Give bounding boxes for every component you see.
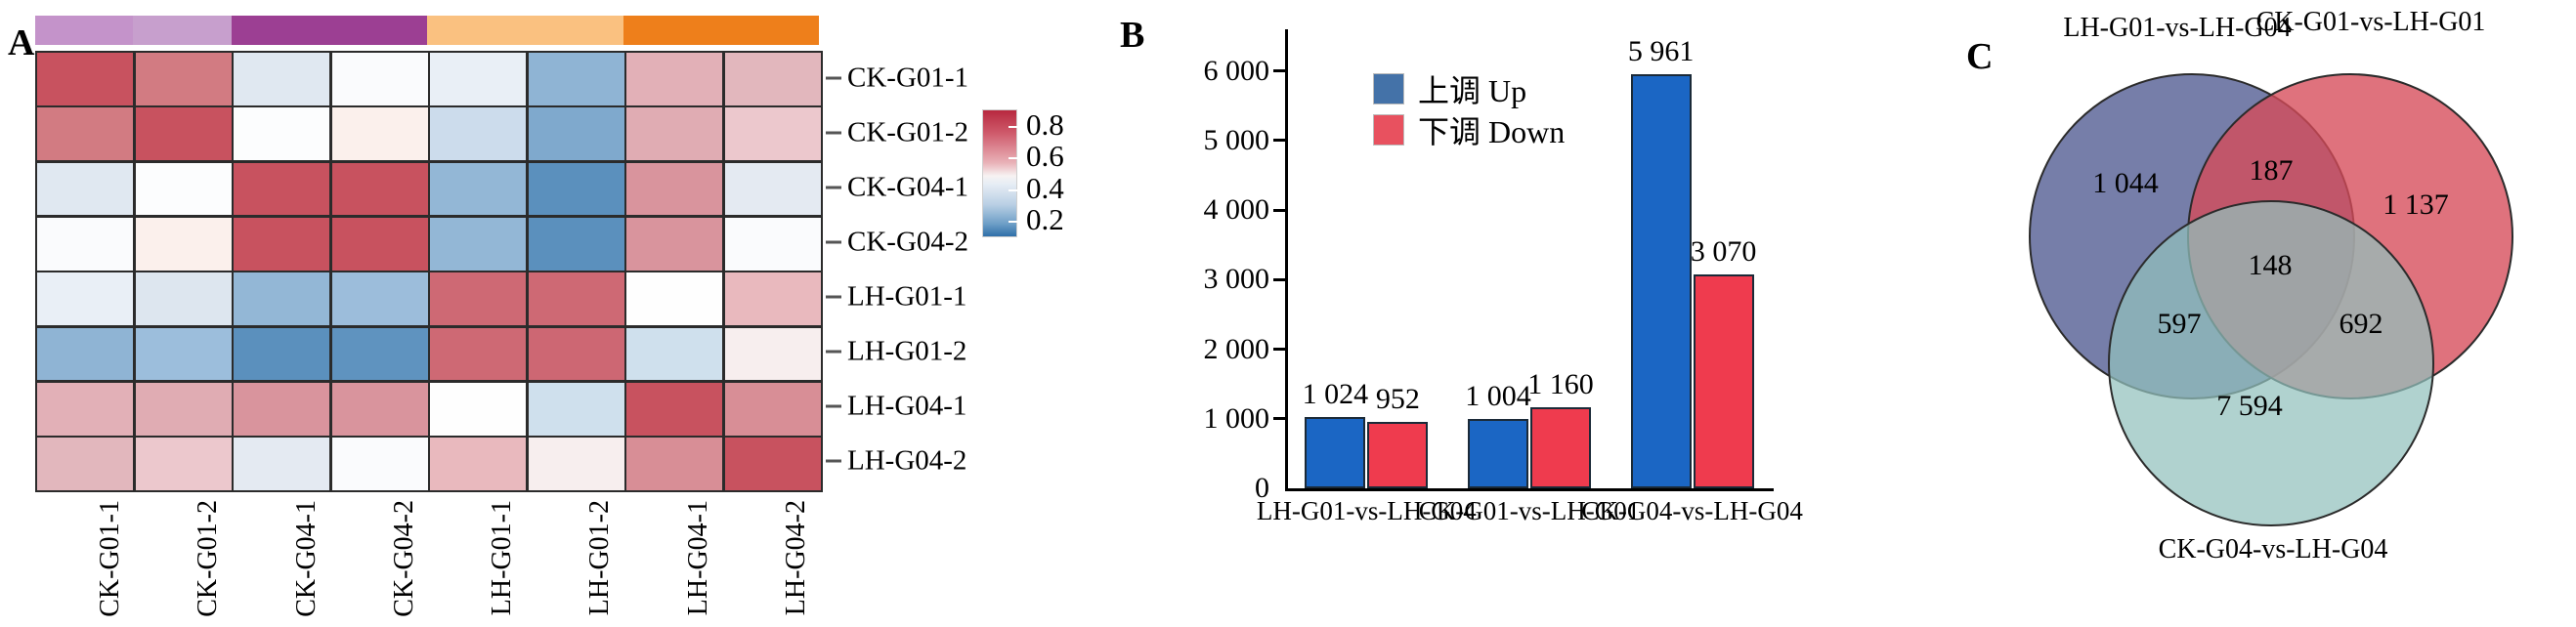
group-color-segment xyxy=(721,16,819,45)
group-color-segment xyxy=(133,16,231,45)
heatmap-cell xyxy=(529,383,624,436)
row-tick xyxy=(826,405,841,408)
colorbar-tick-label: 0.8 xyxy=(1026,107,1064,143)
heatmap-cell xyxy=(37,272,133,325)
heatmap-cell xyxy=(332,218,428,271)
heatmap-cell xyxy=(626,218,722,271)
figure-root: A CK-G01-1CK-G01-2CK-G04-1CK-G04-2LH-G01… xyxy=(0,0,2576,627)
heatmap-cell xyxy=(430,107,526,160)
heatmap-cell xyxy=(234,272,329,325)
heatmap-cell xyxy=(529,328,624,381)
colorbar-tick xyxy=(1009,126,1017,128)
heatmap-column-label: CK-G01-1 xyxy=(95,500,126,617)
heatmap-cell xyxy=(529,438,624,490)
panel-c-venn: C 1 0441 1377 594187597692148LH-G01-vs-L… xyxy=(1964,0,2576,627)
heatmap-cell xyxy=(725,53,821,105)
heatmap-cell xyxy=(136,438,232,490)
heatmap-column-label: CK-G04-2 xyxy=(389,500,420,617)
bar-chart-y-axis xyxy=(1285,29,1288,488)
group-color-segment xyxy=(623,16,721,45)
heatmap-cell xyxy=(37,328,133,381)
heatmap-row-label: CK-G04-1 xyxy=(847,172,968,204)
heatmap-cell xyxy=(234,383,329,436)
legend-label: 下调 Down xyxy=(1418,107,1565,152)
heatmap-cell xyxy=(234,53,329,105)
heatmap-cell xyxy=(725,107,821,160)
colorbar-tick-label: 0.4 xyxy=(1026,171,1064,206)
heatmap-cell xyxy=(234,163,329,216)
venn-title-top-right: CK-G01-vs-LH-G01 xyxy=(2256,7,2486,38)
heatmap-cell xyxy=(529,163,624,216)
bar-value-label: 952 xyxy=(1340,383,1455,416)
row-tick xyxy=(826,187,841,189)
heatmap-cell xyxy=(725,328,821,381)
row-tick xyxy=(826,296,841,299)
heatmap-cell xyxy=(136,107,232,160)
venn-count-bc: 692 xyxy=(2340,308,2383,341)
heatmap-column-label: LH-G01-1 xyxy=(487,500,518,615)
heatmap-cell xyxy=(626,438,722,490)
heatmap-cell xyxy=(234,438,329,490)
panel-a-letter: A xyxy=(8,21,34,64)
venn-count-lh-g01-vs-lh-g04-only: 1 044 xyxy=(2092,167,2159,200)
heatmap-row-label: LH-G04-2 xyxy=(847,445,966,478)
heatmap-cell xyxy=(725,163,821,216)
heatmap-row-label: LH-G01-1 xyxy=(847,281,966,313)
venn-count-ck-g04-vs-lh-g04-only: 7 594 xyxy=(2216,390,2283,423)
y-axis-tick xyxy=(1273,348,1285,351)
heatmap-cell xyxy=(136,383,232,436)
legend-swatch xyxy=(1373,114,1404,146)
y-axis-tick-label: 3 000 xyxy=(1204,263,1270,296)
y-axis-tick-label: 5 000 xyxy=(1204,124,1270,157)
y-axis-tick xyxy=(1273,278,1285,281)
row-tick xyxy=(826,460,841,463)
venn-title-bottom: CK-G04-vs-LH-G04 xyxy=(2159,534,2388,565)
group-color-segment xyxy=(35,16,133,45)
heatmap-cell xyxy=(626,107,722,160)
bar-down xyxy=(1530,407,1591,488)
heatmap-cell xyxy=(430,163,526,216)
heatmap-row-label: LH-G01-2 xyxy=(847,336,966,368)
y-axis-tick-label: 6 000 xyxy=(1204,55,1270,88)
y-axis-tick xyxy=(1273,139,1285,142)
panel-c-letter: C xyxy=(1966,35,1993,78)
row-tick xyxy=(826,77,841,80)
bar-up xyxy=(1468,419,1528,488)
heatmap-cell xyxy=(529,53,624,105)
heatmap-cell xyxy=(430,328,526,381)
heatmap-cell xyxy=(332,438,428,490)
heatmap-column-label: LH-G04-1 xyxy=(683,500,714,615)
bar-up xyxy=(1305,417,1365,488)
colorbar-tick xyxy=(1009,189,1017,191)
venn-count-ck-g01-vs-lh-g01-only: 1 137 xyxy=(2383,188,2449,222)
y-axis-tick xyxy=(1273,417,1285,420)
row-tick xyxy=(826,351,841,354)
legend-item: 上调 Up xyxy=(1373,68,1565,109)
heatmap-column-label: CK-G01-2 xyxy=(193,500,224,617)
heatmap-cell xyxy=(626,53,722,105)
heatmap-cell xyxy=(430,438,526,490)
heatmap-colorbar xyxy=(982,109,1017,237)
heatmap-cell xyxy=(626,328,722,381)
heatmap-cell xyxy=(529,107,624,160)
legend-swatch xyxy=(1373,73,1404,104)
colorbar-tick-label: 0.6 xyxy=(1026,139,1064,174)
heatmap-group-color-bar xyxy=(35,16,819,45)
bar-chart-x-axis xyxy=(1285,488,1774,491)
venn-count-ab: 187 xyxy=(2250,154,2294,188)
group-color-segment xyxy=(427,16,525,45)
heatmap-row-label: CK-G04-2 xyxy=(847,227,968,259)
heatmap-cell xyxy=(725,272,821,325)
heatmap-cell xyxy=(136,272,232,325)
heatmap-cell xyxy=(37,53,133,105)
panel-a-heatmap: A CK-G01-1CK-G01-2CK-G04-1CK-G04-2LH-G01… xyxy=(0,0,1114,627)
heatmap-cell xyxy=(332,328,428,381)
heatmap-cell xyxy=(37,107,133,160)
bar-value-label: 1 160 xyxy=(1503,368,1618,401)
y-axis-tick xyxy=(1273,209,1285,212)
venn-diagram: 1 0441 1377 594187597692148LH-G01-vs-LH-… xyxy=(2011,54,2539,542)
heatmap-cell xyxy=(37,438,133,490)
panel-b-letter: B xyxy=(1120,14,1144,57)
heatmap-cell xyxy=(529,218,624,271)
heatmap-cell xyxy=(626,383,722,436)
row-tick xyxy=(826,241,841,244)
venn-count-ac: 597 xyxy=(2158,308,2202,341)
heatmap-cell xyxy=(136,328,232,381)
panel-b-barchart: B 上调 Up下调 Down 01 0002 0003 0004 0005 00… xyxy=(1114,0,1964,627)
bar-value-label: 5 961 xyxy=(1604,35,1719,68)
colorbar-tick xyxy=(1009,157,1017,159)
heatmap-cell xyxy=(725,383,821,436)
legend-label: 上调 Up xyxy=(1418,66,1526,111)
heatmap-cell xyxy=(37,218,133,271)
heatmap-cell xyxy=(529,272,624,325)
bar-chart-plot-area: 上调 Up下调 Down 01 0002 0003 0004 0005 0006… xyxy=(1285,29,1774,488)
heatmap-cell xyxy=(332,107,428,160)
bar-up xyxy=(1631,74,1692,488)
bar-down xyxy=(1367,422,1428,488)
heatmap-cell xyxy=(430,383,526,436)
heatmap-cell xyxy=(332,53,428,105)
heatmap-cell xyxy=(725,438,821,490)
x-axis-category-label: CK-G04-vs-LH-G04 xyxy=(1581,496,1802,526)
heatmap-cell xyxy=(136,218,232,271)
heatmap-cell xyxy=(136,163,232,216)
bar-chart-legend: 上调 Up下调 Down xyxy=(1373,68,1565,150)
heatmap-cell xyxy=(37,163,133,216)
heatmap-cell xyxy=(234,328,329,381)
heatmap-cell xyxy=(430,272,526,325)
heatmap-grid xyxy=(35,51,823,492)
y-axis-tick xyxy=(1273,69,1285,72)
heatmap-column-label: LH-G04-2 xyxy=(781,500,812,615)
colorbar-tick xyxy=(1009,221,1017,223)
y-axis-tick-label: 4 000 xyxy=(1204,193,1270,227)
heatmap-cell xyxy=(136,53,232,105)
row-tick xyxy=(826,132,841,135)
heatmap-cell xyxy=(626,163,722,216)
group-color-segment xyxy=(232,16,329,45)
colorbar-tick-label: 0.2 xyxy=(1026,202,1064,237)
heatmap-cell xyxy=(234,107,329,160)
heatmap-column-labels: CK-G01-1CK-G01-2CK-G04-1CK-G04-2LH-G01-1… xyxy=(35,494,819,627)
heatmap-cell xyxy=(332,272,428,325)
legend-item: 下调 Down xyxy=(1373,109,1565,150)
group-color-segment xyxy=(525,16,623,45)
heatmap-cell xyxy=(37,383,133,436)
y-axis-tick-label: 1 000 xyxy=(1204,402,1270,436)
heatmap-column-label: LH-G01-2 xyxy=(584,500,616,615)
heatmap-cell xyxy=(430,53,526,105)
y-axis-tick-label: 2 000 xyxy=(1204,333,1270,366)
heatmap-row-label: CK-G01-2 xyxy=(847,117,968,149)
heatmap-cell xyxy=(430,218,526,271)
venn-count-abc: 148 xyxy=(2249,249,2293,282)
bar-value-label: 3 070 xyxy=(1666,235,1782,269)
heatmap-cell xyxy=(332,163,428,216)
heatmap-cell xyxy=(234,218,329,271)
bar-down xyxy=(1694,274,1754,488)
heatmap-cell xyxy=(725,218,821,271)
heatmap-row-label: LH-G04-1 xyxy=(847,391,966,423)
group-color-segment xyxy=(329,16,427,45)
heatmap-cell xyxy=(332,383,428,436)
heatmap-row-label: CK-G01-1 xyxy=(847,63,968,95)
heatmap-cell xyxy=(626,272,722,325)
heatmap-column-label: CK-G04-1 xyxy=(291,500,322,617)
